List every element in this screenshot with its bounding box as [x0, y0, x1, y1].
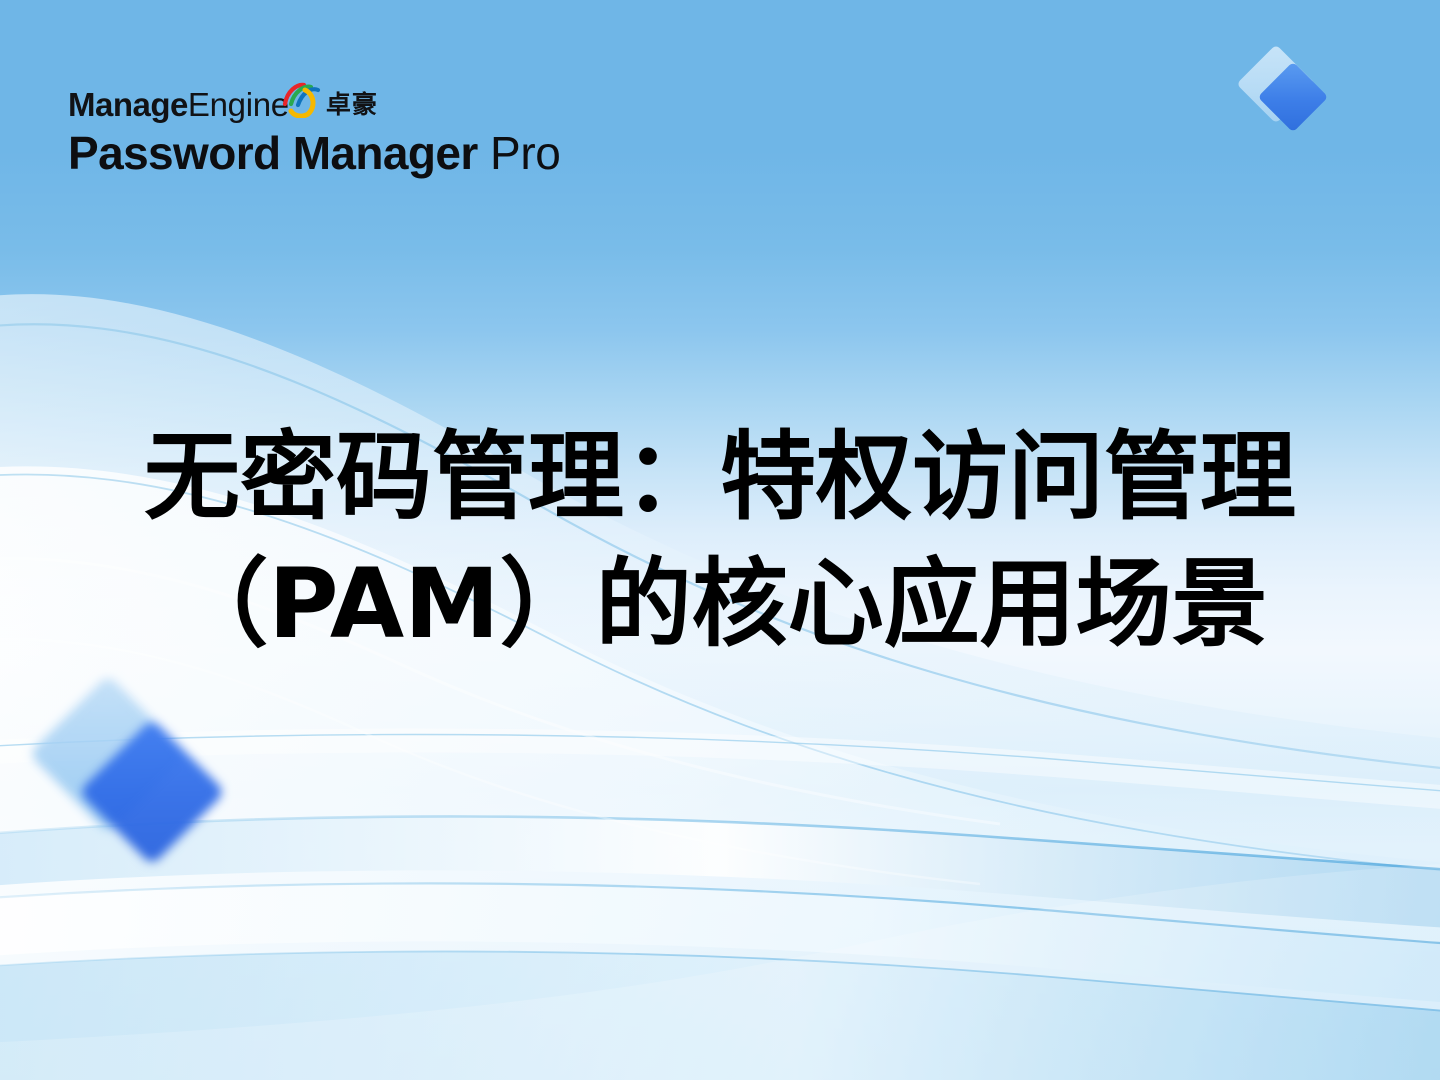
slide-title-line-1: 无密码管理：特权访问管理 — [0, 414, 1440, 541]
product-name: Password Manager Pro — [68, 130, 708, 176]
slide-title-line-2: （PAM）的核心应用场景 — [0, 541, 1440, 668]
manageengine-wordmark: ManageEngine 卓豪 — [68, 84, 708, 124]
diamond-bottom-left-front — [78, 718, 225, 865]
diamond-bottom-left — [46, 694, 236, 884]
slide-title: 无密码管理：特权访问管理 （PAM）的核心应用场景 — [0, 414, 1440, 667]
diamond-bottom-left-back — [29, 675, 187, 833]
brand-manage-text: Manage — [68, 88, 188, 121]
brand-logo: ManageEngine 卓豪 Password Manager Pro — [68, 84, 708, 176]
diamond-top-right — [1242, 52, 1328, 138]
diamond-top-right-front — [1258, 62, 1329, 133]
product-name-bold: Password Manager — [68, 127, 478, 179]
presentation-slide: ManageEngine 卓豪 Password Manager Pro 无密码… — [0, 0, 1440, 1080]
manageengine-swoosh-icon — [278, 82, 324, 118]
brand-engine-text: Engine — [188, 88, 289, 121]
brand-chinese-name: 卓豪 — [326, 92, 378, 117]
product-name-light: Pro — [478, 127, 561, 179]
diamond-top-right-back — [1236, 44, 1315, 123]
